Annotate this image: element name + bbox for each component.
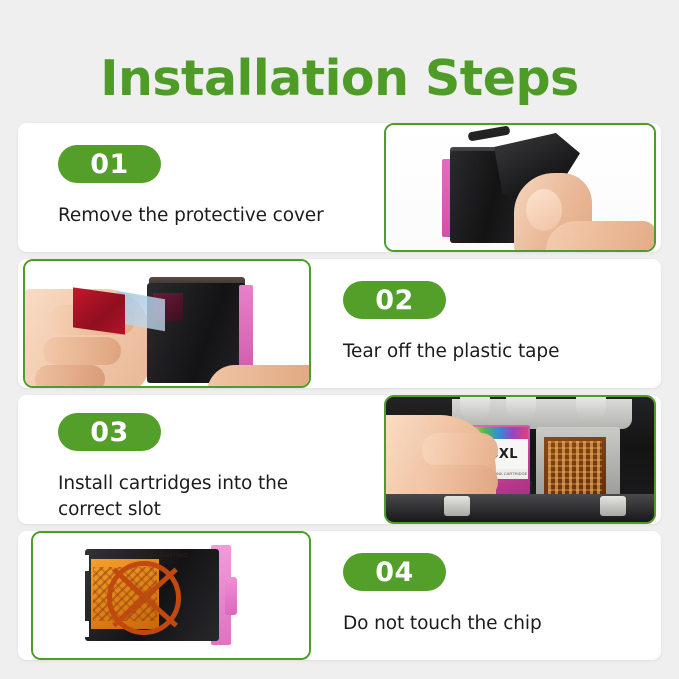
installation-steps-page: Installation Steps 01 Remove the protect… xyxy=(0,0,679,679)
step-badge-1: 01 xyxy=(58,145,161,183)
step-text-block-2: 02 Tear off the plastic tape xyxy=(343,281,559,365)
page-title: Installation Steps xyxy=(0,50,679,107)
step-row-4: Don't touch the Chip 04 Do not touch the… xyxy=(18,531,661,660)
step-image-3: 63XL TRI-COLOR | INK CARTRIDGE xyxy=(386,397,654,522)
step-image-2 xyxy=(25,261,309,386)
step-description-4: Do not touch the chip xyxy=(343,611,542,637)
step-text-block-1: 01 Remove the protective cover xyxy=(58,145,324,229)
step-image-panel-4: Don't touch the Chip xyxy=(31,531,311,660)
step-image-panel-3: 63XL TRI-COLOR | INK CARTRIDGE xyxy=(384,395,656,524)
step-image-1 xyxy=(386,125,654,250)
step-text-block-4: 04 Do not touch the chip xyxy=(343,553,542,637)
step-text-block-3: 03 Install cartridges into the correct s… xyxy=(58,413,288,523)
step-description-3: Install cartridges into the correct slot xyxy=(58,471,288,523)
step-badge-3: 03 xyxy=(58,413,161,451)
step-image-panel-1 xyxy=(384,123,656,252)
step-image-panel-2 xyxy=(23,259,311,388)
step-badge-4: 04 xyxy=(343,553,446,591)
step-description-2: Tear off the plastic tape xyxy=(343,339,559,365)
step-row-1: 01 Remove the protective cover xyxy=(18,123,661,252)
step-row-3: 03 Install cartridges into the correct s… xyxy=(18,395,661,524)
step-badge-2: 02 xyxy=(343,281,446,319)
step-row-2: 02 Tear off the plastic tape xyxy=(18,259,661,388)
step-description-1: Remove the protective cover xyxy=(58,203,324,229)
step-image-4: Don't touch the Chip xyxy=(33,533,309,658)
